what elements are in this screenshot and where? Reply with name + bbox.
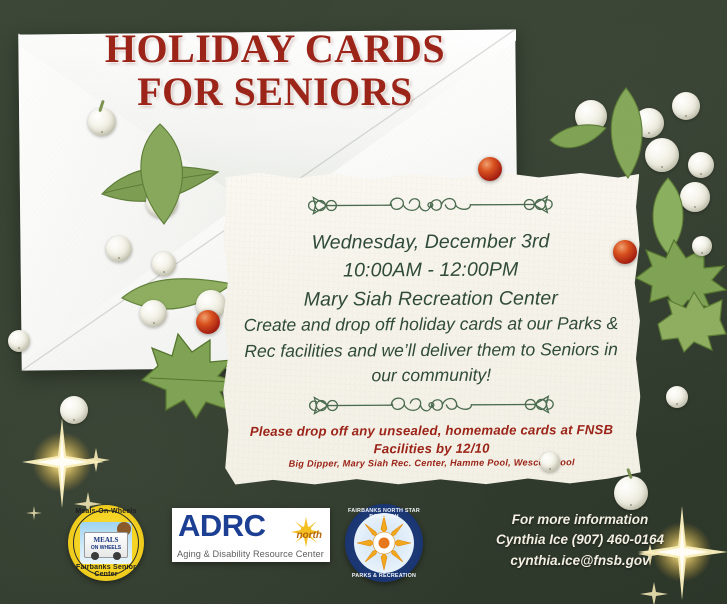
description-line-3: our community! — [236, 362, 626, 390]
parks-bottom-arc-text: PARKS & RECREATION — [345, 573, 423, 579]
green-holly-leaf — [654, 290, 727, 354]
truck-line-2: ON WHEELS — [85, 546, 127, 551]
event-time: 10:00AM - 12:00PM — [222, 255, 640, 285]
holiday-cards-flyer: HOLIDAY CARDS FOR SENIORS — [0, 0, 727, 604]
dropoff-line-2: Facilities by 12/10 — [235, 439, 629, 459]
divider-top — [221, 191, 639, 219]
white-mistletoe-berry — [106, 236, 132, 262]
white-mistletoe-berry — [540, 452, 560, 472]
snowflake-sun-emblem-icon — [354, 513, 414, 573]
contact-name-phone: Cynthia Ice (907) 460-0164 — [455, 530, 705, 550]
ornamental-flourish-divider-icon — [286, 391, 576, 419]
description-line-2: Rec facilities and we’ll deliver them to… — [236, 337, 626, 365]
fnsb-parks-recreation-logo: FAIRBANKS NORTH STAR BOROUGH PARKS & REC… — [345, 504, 423, 582]
adrc-region-label: north — [296, 530, 322, 541]
white-mistletoe-berry — [666, 386, 688, 408]
parks-top-arc-text: FAIRBANKS NORTH STAR BOROUGH — [345, 508, 423, 520]
mow-top-arc-text: Meals-On-Wheels — [68, 508, 144, 515]
title-line-1: HOLIDAY CARDS — [105, 26, 445, 71]
white-mistletoe-berry — [692, 236, 712, 256]
mow-scene: MEALS ON WHEELS — [80, 522, 132, 564]
divider-bottom — [222, 391, 640, 419]
logo-inner-disc — [354, 513, 414, 573]
note-card: Wednesday, December 3rd 10:00AM - 12:00P… — [221, 169, 641, 487]
red-holly-berry — [196, 310, 220, 334]
description-line-1: Create and drop off holiday cards at our… — [236, 311, 626, 339]
event-date: Wednesday, December 3rd — [221, 227, 639, 257]
dropoff-notice: Please drop off any unsealed, homemade c… — [234, 421, 628, 459]
meals-on-wheels-logo: Meals-On-Wheels Fairbanks Senior Center … — [68, 505, 144, 581]
title-line-2: FOR SENIORS — [60, 71, 490, 114]
delivery-truck-icon: MEALS ON WHEELS — [84, 532, 128, 558]
truck-wheel — [113, 552, 121, 560]
adrc-subtitle: Aging & Disability Resource Center — [177, 549, 326, 559]
white-mistletoe-berry — [672, 92, 700, 120]
adrc-north-logo: ADRC north Aging & Disability Resource C… — [172, 508, 330, 562]
white-mistletoe-berry — [614, 476, 648, 510]
green-holly-leaf — [548, 118, 608, 158]
adrc-acronym: ADRC — [178, 510, 266, 541]
contact-heading: For more information — [455, 510, 705, 530]
event-details: Wednesday, December 3rd 10:00AM - 12:00P… — [221, 227, 639, 314]
white-mistletoe-berry — [88, 108, 116, 136]
white-mistletoe-berry — [60, 396, 88, 424]
event-location: Mary Siah Recreation Center — [222, 283, 640, 313]
mow-bottom-arc-text: Fairbanks Senior Center — [68, 564, 144, 578]
white-mistletoe-berry — [8, 330, 30, 352]
contact-info: For more information Cynthia Ice (907) 4… — [455, 510, 705, 571]
truck-line-1: MEALS — [85, 537, 127, 544]
dropoff-line-1: Please drop off any unsealed, homemade c… — [234, 421, 628, 441]
white-mistletoe-berry — [688, 152, 714, 178]
truck-wheel — [91, 552, 99, 560]
facilities-list: Big Dipper, Mary Siah Rec. Center, Hamme… — [235, 457, 629, 469]
page-title: HOLIDAY CARDS FOR SENIORS — [60, 28, 490, 114]
contact-email[interactable]: cynthia.ice@fnsb.gov — [455, 551, 705, 571]
event-description: Create and drop off holiday cards at our… — [236, 311, 626, 390]
ornamental-flourish-divider-icon — [285, 191, 575, 219]
green-holly-leaf — [120, 120, 200, 230]
red-holly-berry — [478, 157, 502, 181]
